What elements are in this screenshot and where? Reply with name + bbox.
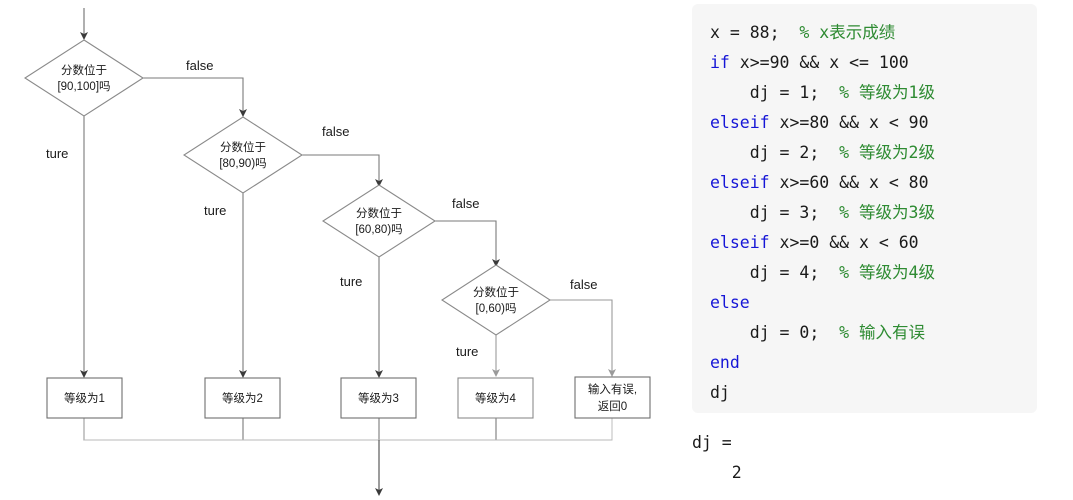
output-line: dj =: [692, 428, 1037, 458]
decision-text-line2: [0,60)吗: [476, 302, 517, 315]
code-line: dj: [710, 378, 1037, 408]
edge-label-true: ture: [340, 274, 362, 289]
terminal-group: 等级为1 等级为2 等级为3 等级为4 输入有误, 返回0: [47, 377, 650, 418]
code-comment: % 输入有误: [839, 323, 925, 342]
output-line: 2: [692, 458, 1037, 488]
edge-label-false: false: [570, 277, 597, 292]
code-text: x>=0 && x < 60: [770, 233, 919, 252]
code-keyword: end: [710, 353, 740, 372]
code-line: dj = 2; % 等级为2级: [710, 138, 1037, 168]
merge-rail-5: [496, 418, 612, 440]
code-line: elseif x>=0 && x < 60: [710, 228, 1037, 258]
code-lines: x = 88; % x表示成绩if x>=90 && x <= 100 dj =…: [710, 18, 1037, 408]
output-lines: dj = 2: [692, 428, 1037, 488]
terminal-text: 等级为3: [358, 391, 399, 405]
decision-text-line1: 分数位于: [356, 206, 402, 220]
decision-group: 分数位于 [90,100]吗 分数位于 [80,90)吗 分数位于 [60,80…: [25, 40, 550, 335]
edge-label-false: false: [452, 196, 479, 211]
console-output: dj = 2: [692, 428, 1037, 488]
code-text: dj = 2;: [710, 143, 839, 162]
decision-text-line1: 分数位于: [61, 63, 107, 77]
code-line: elseif x>=80 && x < 90: [710, 108, 1037, 138]
code-text: dj = 1;: [710, 83, 839, 102]
decision-text-line2: [90,100]吗: [57, 80, 110, 93]
decision-text-line2: [60,80)吗: [355, 223, 402, 236]
code-text: x>=90 && x <= 100: [730, 53, 909, 72]
terminal-node[interactable]: 等级为1: [47, 378, 122, 418]
code-text: dj: [710, 383, 730, 402]
flowchart-canvas: 分数位于 [90,100]吗 分数位于 [80,90)吗 分数位于 [60,80…: [0, 0, 690, 500]
decision-node[interactable]: 分数位于 [80,90)吗: [184, 117, 302, 193]
code-line: dj = 4; % 等级为4级: [710, 258, 1037, 288]
code-text: x>=80 && x < 90: [770, 113, 929, 132]
decision-node[interactable]: 分数位于 [60,80)吗: [323, 185, 435, 257]
terminal-node[interactable]: 等级为4: [458, 378, 533, 418]
code-line: dj = 3; % 等级为3级: [710, 198, 1037, 228]
code-line: else: [710, 288, 1037, 318]
code-comment: % x表示成绩: [799, 23, 895, 42]
code-comment: % 等级为1级: [839, 83, 935, 102]
code-line: x = 88; % x表示成绩: [710, 18, 1037, 48]
edge-label-true: ture: [46, 146, 68, 161]
edge-label-false: false: [322, 124, 349, 139]
code-keyword: elseif: [710, 113, 770, 132]
terminal-text-line2: 返回0: [598, 400, 627, 413]
code-comment: % 等级为3级: [839, 203, 935, 222]
code-line: if x>=90 && x <= 100: [710, 48, 1037, 78]
code-keyword: elseif: [710, 233, 770, 252]
terminal-text: 等级为4: [475, 391, 516, 405]
code-comment: % 等级为2级: [839, 143, 935, 162]
decision-node[interactable]: 分数位于 [0,60)吗: [442, 265, 550, 335]
code-text: dj = 4;: [710, 263, 839, 282]
edge-d3-false: [435, 221, 496, 263]
merge-rail-1: [84, 418, 379, 440]
terminal-node[interactable]: 输入有误, 返回0: [575, 377, 650, 418]
code-line: end: [710, 348, 1037, 378]
terminal-node[interactable]: 等级为3: [341, 378, 416, 418]
code-keyword: elseif: [710, 173, 770, 192]
code-line: elseif x>=60 && x < 80: [710, 168, 1037, 198]
edge-label-true: ture: [456, 344, 478, 359]
decision-text-line1: 分数位于: [220, 140, 266, 154]
edge-d1-false: [143, 78, 243, 113]
merge-rail-4: [379, 418, 496, 440]
terminal-text-line1: 输入有误,: [588, 382, 637, 396]
code-text: x>=60 && x < 80: [770, 173, 929, 192]
terminal-node[interactable]: 等级为2: [205, 378, 280, 418]
code-keyword: if: [710, 53, 730, 72]
edge-label-false: false: [186, 58, 213, 73]
code-text: dj = 3;: [710, 203, 839, 222]
code-line: dj = 1; % 等级为1级: [710, 78, 1037, 108]
decision-node[interactable]: 分数位于 [90,100]吗: [25, 40, 143, 116]
code-keyword: else: [710, 293, 750, 312]
code-line: dj = 0; % 输入有误: [710, 318, 1037, 348]
edge-d2-false: [302, 155, 379, 183]
edge-label-true: ture: [204, 203, 226, 218]
code-editor-panel[interactable]: x = 88; % x表示成绩if x>=90 && x <= 100 dj =…: [692, 4, 1037, 413]
terminal-text: 等级为2: [222, 391, 263, 405]
code-comment: % 等级为4级: [839, 263, 935, 282]
edge-d4-false: [550, 300, 612, 373]
decision-text-line1: 分数位于: [473, 285, 519, 299]
code-text: dj = 0;: [710, 323, 839, 342]
decision-text-line2: [80,90)吗: [219, 157, 266, 170]
terminal-text: 等级为1: [64, 391, 105, 405]
code-text: x = 88;: [710, 23, 799, 42]
